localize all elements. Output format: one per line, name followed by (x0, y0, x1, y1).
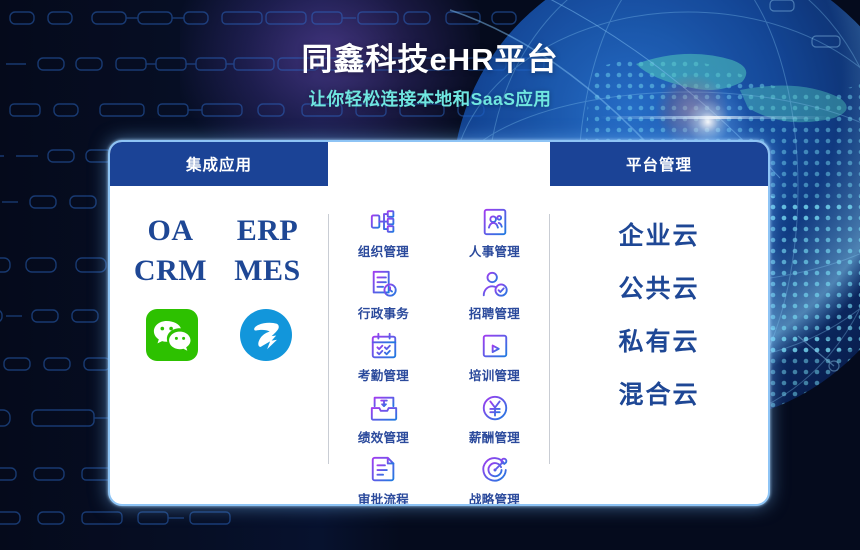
module-label: 考勤管理 (338, 365, 430, 384)
legacy-app-crm[interactable]: CRM (134, 252, 207, 290)
module-admin-affairs[interactable]: 行政事务 (338, 268, 430, 322)
module-strategy[interactable]: 战略管理 (449, 454, 541, 506)
cloud-option-enterprise[interactable]: 企业云 (550, 224, 768, 249)
cloud-option-private[interactable]: 私有云 (550, 330, 768, 355)
cloud-option-hybrid[interactable]: 混合云 (550, 383, 768, 408)
module-attendance[interactable]: 考勤管理 (338, 330, 430, 384)
tab-platform-management[interactable]: 平台管理 (550, 142, 768, 186)
module-label: 战略管理 (449, 489, 541, 506)
module-salary[interactable]: 薪酬管理 (449, 392, 541, 446)
dingtalk-icon[interactable] (240, 309, 292, 361)
hr-modules-grid: 组织管理 人事管理 (329, 206, 549, 506)
module-training[interactable]: 培训管理 (449, 330, 541, 384)
module-label: 培训管理 (449, 365, 541, 384)
hero-title-block: 同鑫科技eHR平台 让你轻松连接本地和SaaS应用 (0, 34, 860, 111)
page-title: 同鑫科技eHR平台 (0, 34, 860, 79)
cloud-option-public[interactable]: 公共云 (550, 277, 768, 302)
module-label: 审批流程 (338, 489, 430, 506)
legacy-app-list: OA ERP CRM MES (110, 212, 328, 291)
strategy-target-icon (449, 454, 541, 486)
recruitment-icon (449, 268, 541, 300)
approval-document-icon (338, 454, 430, 486)
module-label: 绩效管理 (338, 427, 430, 446)
org-chart-icon (338, 206, 430, 238)
module-personnel-management[interactable]: 人事管理 (449, 206, 541, 260)
module-label: 招聘管理 (449, 303, 541, 322)
legacy-app-oa[interactable]: OA (148, 212, 194, 250)
panel-header: 集成应用 平台管理 (110, 142, 768, 186)
module-label: 行政事务 (338, 303, 430, 322)
page-subtitle: 让你轻松连接本地和SaaS应用 (0, 86, 860, 111)
panel-body: OA ERP CRM MES (110, 186, 768, 506)
module-label: 组织管理 (338, 241, 430, 260)
platform-management-section: 企业云 公共云 私有云 混合云 (550, 186, 768, 506)
module-recruitment[interactable]: 招聘管理 (449, 268, 541, 322)
performance-icon (338, 392, 430, 424)
salary-yen-icon (449, 392, 541, 424)
tab-integrated-apps[interactable]: 集成应用 (110, 142, 328, 186)
training-play-icon (449, 330, 541, 362)
attendance-calendar-icon (338, 330, 430, 362)
messaging-app-icons (110, 309, 328, 361)
legacy-app-mes[interactable]: MES (234, 252, 301, 290)
header-spacer (328, 142, 550, 186)
module-label: 人事管理 (449, 241, 541, 260)
module-org-management[interactable]: 组织管理 (338, 206, 430, 260)
wechat-icon[interactable] (146, 309, 198, 361)
admin-affairs-icon (338, 268, 430, 300)
hr-modules-section: 组织管理 人事管理 (329, 186, 549, 506)
module-approval-flow[interactable]: 审批流程 (338, 454, 430, 506)
legacy-app-erp[interactable]: ERP (237, 212, 299, 250)
main-panel: 集成应用 平台管理 OA ERP CRM MES (108, 140, 770, 506)
personnel-icon (449, 206, 541, 238)
module-label: 薪酬管理 (449, 427, 541, 446)
tab-integrated-apps-label: 集成应用 (186, 153, 252, 175)
app-screenshot: 同鑫科技eHR平台 让你轻松连接本地和SaaS应用 集成应用 平台管理 OA E… (0, 0, 860, 550)
module-performance[interactable]: 绩效管理 (338, 392, 430, 446)
tab-platform-management-label: 平台管理 (626, 153, 692, 175)
integrated-apps-section: OA ERP CRM MES (110, 186, 328, 506)
